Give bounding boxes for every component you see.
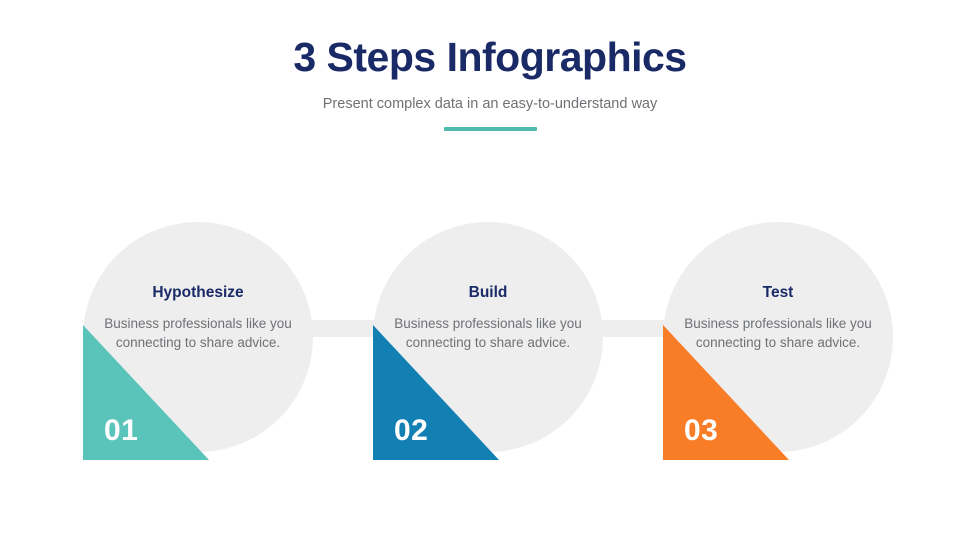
page-subtitle: Present complex data in an easy-to-under… — [0, 95, 980, 114]
step-wedge-2 — [373, 325, 499, 460]
infographic-slide: 3 Steps Infographics Present complex dat… — [0, 0, 980, 551]
step-triangle-3 — [663, 325, 789, 460]
page-title: 3 Steps Infographics — [0, 34, 980, 82]
step-card-1[interactable]: Hypothesize Business professionals like … — [83, 222, 313, 462]
title-accent-divider — [444, 127, 537, 131]
step-wedge-1 — [83, 325, 209, 460]
step-number-2: 02 — [394, 416, 428, 446]
step-number-3: 03 — [684, 416, 718, 446]
step-number-1: 01 — [104, 416, 138, 446]
slide-header: 3 Steps Infographics Present complex dat… — [0, 34, 980, 131]
step-card-2[interactable]: Build Business professionals like you co… — [373, 222, 603, 462]
step-triangle-1 — [83, 325, 209, 460]
step-wedge-3 — [663, 325, 789, 460]
step-card-3[interactable]: Test Business professionals like you con… — [663, 222, 893, 462]
steps-container: Hypothesize Business professionals like … — [0, 222, 980, 462]
step-triangle-2 — [373, 325, 499, 460]
